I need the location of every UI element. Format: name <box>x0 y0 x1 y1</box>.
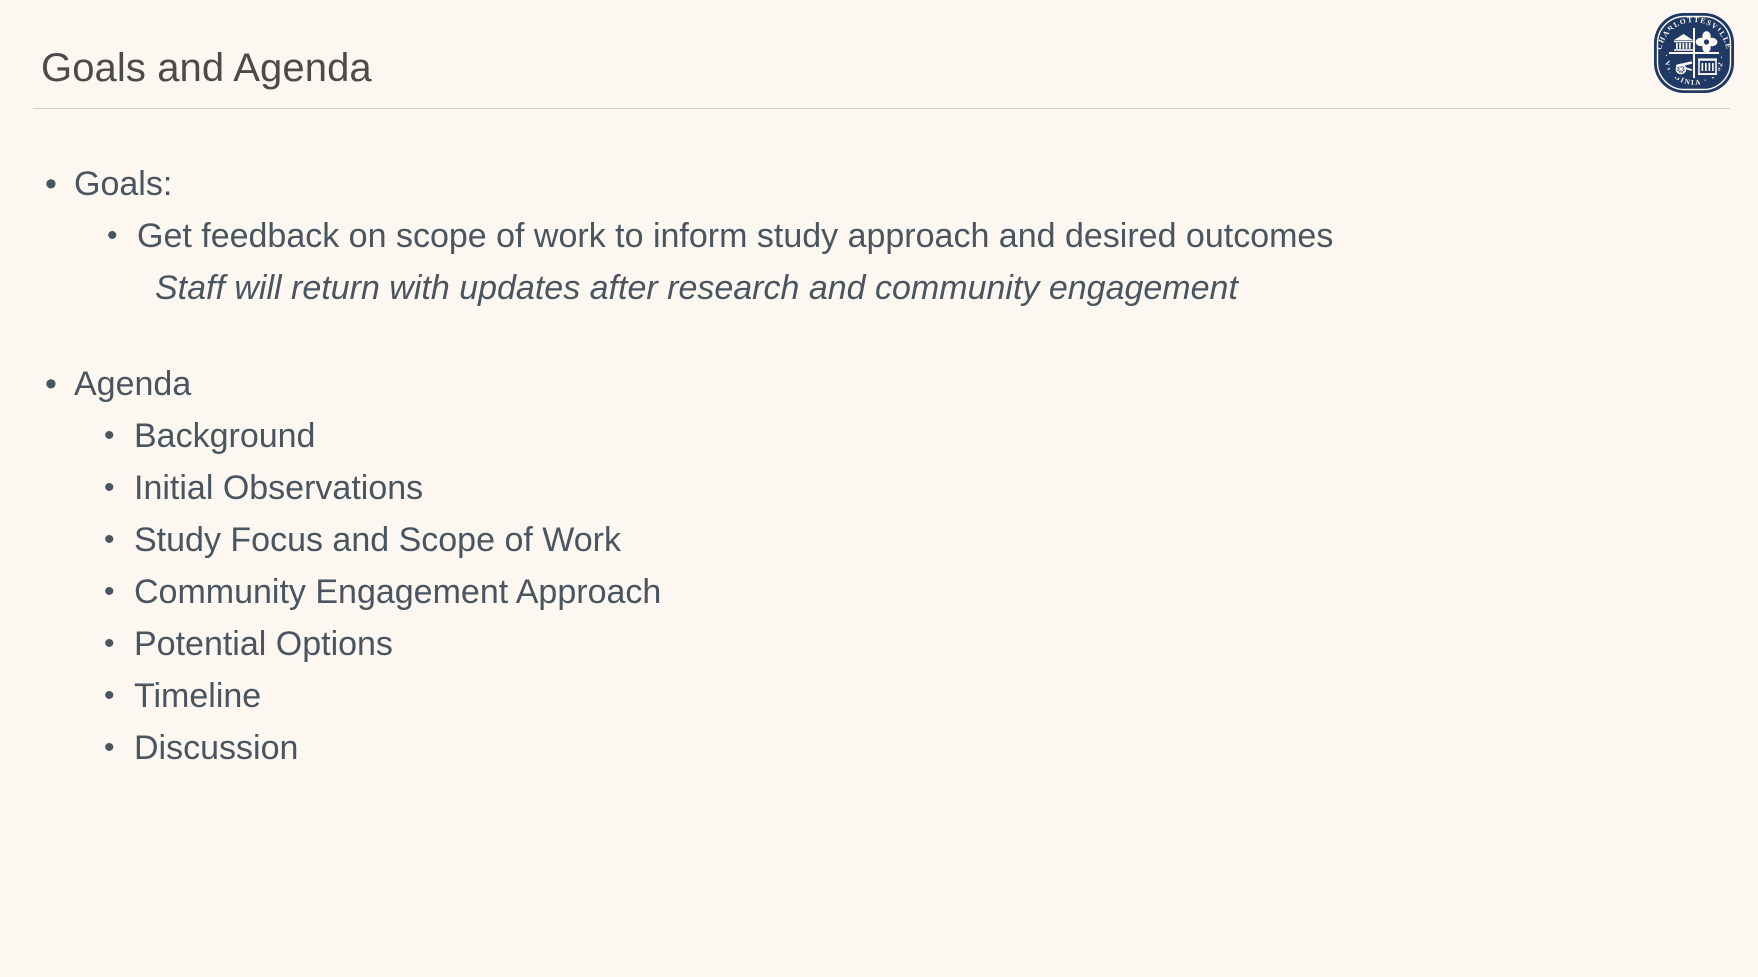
bullet-icon: • <box>101 462 134 514</box>
list-item-label: Community Engagement Approach <box>134 566 661 618</box>
presentation-slide: Goals and Agenda CHARLOTTESVILLE · VIRGI… <box>0 0 1758 977</box>
section-goals: • Goals: • Get feedback on scope of work… <box>0 112 1758 314</box>
bullet-icon: • <box>41 358 74 410</box>
list-item-timeline: • Timeline <box>0 670 1758 722</box>
list-item-label: Discussion <box>134 722 298 774</box>
title-divider <box>33 108 1730 109</box>
list-item-label: Get feedback on scope of work to inform … <box>137 210 1333 262</box>
bullet-icon: • <box>101 722 134 774</box>
section-heading-label: Agenda <box>74 358 191 410</box>
page-title: Goals and Agenda <box>41 44 372 92</box>
bullet-icon: • <box>101 514 134 566</box>
slide-body: • Goals: • Get feedback on scope of work… <box>0 112 1758 977</box>
slide-header: Goals and Agenda CHARLOTTESVILLE · VIRGI… <box>0 0 1758 112</box>
section-heading-agenda: • Agenda <box>0 358 1758 410</box>
list-item-study-focus-and-scope-of-work: • Study Focus and Scope of Work <box>0 514 1758 566</box>
city-seal-logo: CHARLOTTESVILLE · VIRGINIA · 1762 · <box>1648 7 1740 99</box>
list-item-note: Staff will return with updates after res… <box>0 262 1758 314</box>
bullet-icon: • <box>101 410 134 462</box>
list-item-discussion: • Discussion <box>0 722 1758 774</box>
bullet-icon: • <box>101 566 134 618</box>
list-item-label: Initial Observations <box>134 462 423 514</box>
section-agenda: • Agenda • Background • Initial Observat… <box>0 358 1758 774</box>
section-heading-label: Goals: <box>74 158 172 210</box>
list-item-community-engagement-approach: • Community Engagement Approach <box>0 566 1758 618</box>
bullet-icon: • <box>101 618 134 670</box>
bullet-icon: • <box>104 210 137 262</box>
list-item-label: Timeline <box>134 670 261 722</box>
section-spacer <box>0 314 1758 358</box>
list-item-potential-options: • Potential Options <box>0 618 1758 670</box>
bullet-icon: • <box>101 670 134 722</box>
list-item-background: • Background <box>0 410 1758 462</box>
bullet-icon: • <box>41 158 74 210</box>
list-item-label: Background <box>134 410 315 462</box>
list-item-initial-observations: • Initial Observations <box>0 462 1758 514</box>
list-item: • Get feedback on scope of work to infor… <box>0 210 1758 262</box>
list-item-label: Study Focus and Scope of Work <box>134 514 621 566</box>
list-item-label: Potential Options <box>134 618 393 670</box>
section-heading-goals: • Goals: <box>0 158 1758 210</box>
